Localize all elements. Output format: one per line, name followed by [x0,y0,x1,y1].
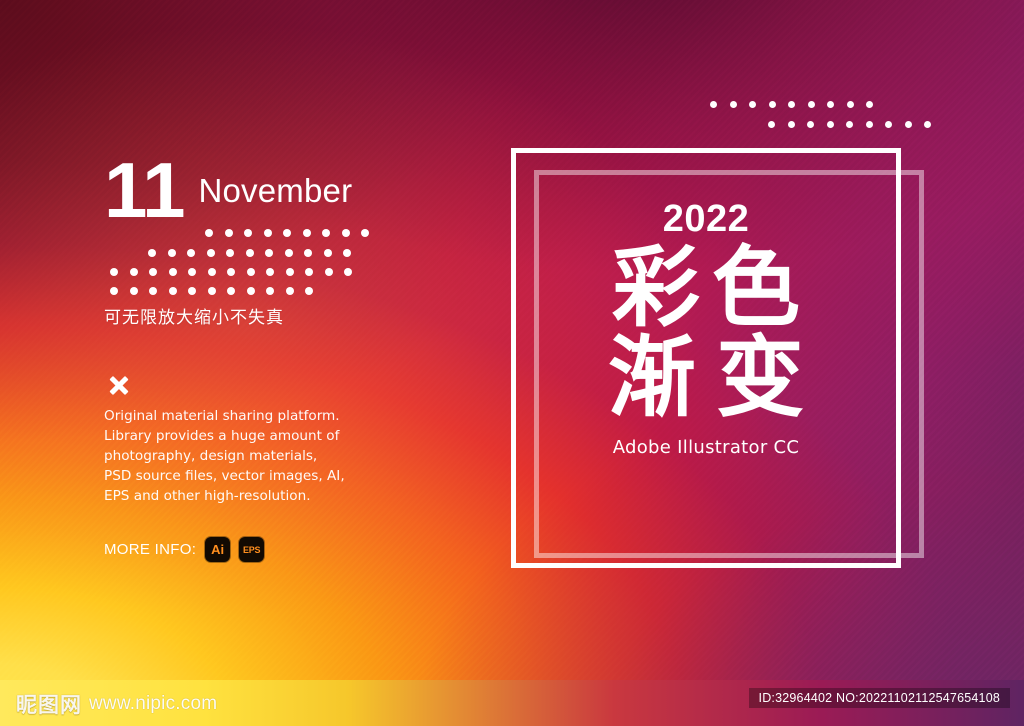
dot [846,121,853,128]
dot [749,101,756,108]
year-label: 2022 [663,200,750,238]
left-content-column: 11 November [104,160,434,221]
panel-content: 2022 彩色 渐变 Adobe Illustrator CC [511,148,901,568]
chinese-subtitle: 可无限放大缩小不失真 [104,303,284,328]
asset-id-strip: ID:32964402 NO:20221102112547654108 [749,688,1010,708]
dot [847,101,854,108]
watermark: 昵图网 www.nipic.com [16,689,217,719]
panel-caption: Adobe Illustrator CC [613,437,800,458]
watermark-url: www.nipic.com [89,693,217,715]
adobe-illustrator-badge[interactable]: Ai [205,537,230,562]
body-paragraph: Original material sharing platform.Libra… [104,406,364,506]
dot [885,121,892,128]
dot [788,101,795,108]
eps-format-badge[interactable]: EPS [239,537,264,562]
title-line-2: 渐变 [588,336,824,420]
watermark-logo-text: 昵图网 [16,689,82,719]
date-heading: 11 November [104,160,434,221]
dot [924,121,931,128]
dot [827,121,834,128]
day-number: 11 [104,160,184,221]
dot [788,121,795,128]
title-line-1: 彩色 [600,246,812,330]
footer-bar: 昵图网 www.nipic.com ID:32964402 NO:2022110… [0,680,1024,726]
dot [807,121,814,128]
dot [905,121,912,128]
poster-canvas: 11 November 可无限放大缩小不失真 Original material… [0,0,1024,726]
more-info-label: MORE INFO: [104,541,196,558]
dot [827,101,834,108]
body-line: PSD source files, vector images, AI, [104,466,364,486]
dot [768,121,775,128]
dot [769,101,776,108]
more-info-row: MORE INFO: Ai EPS [104,537,264,562]
body-line: EPS and other high-resolution. [104,486,364,506]
dot [730,101,737,108]
body-line: photography, design materials, [104,446,364,466]
dot [866,121,873,128]
body-line: Original material sharing platform. [104,406,364,426]
month-name: November [198,174,352,207]
x-mark-icon [108,374,130,396]
dot [866,101,873,108]
body-line: Library provides a huge amount of [104,426,364,446]
dot [808,101,815,108]
dot [710,101,717,108]
